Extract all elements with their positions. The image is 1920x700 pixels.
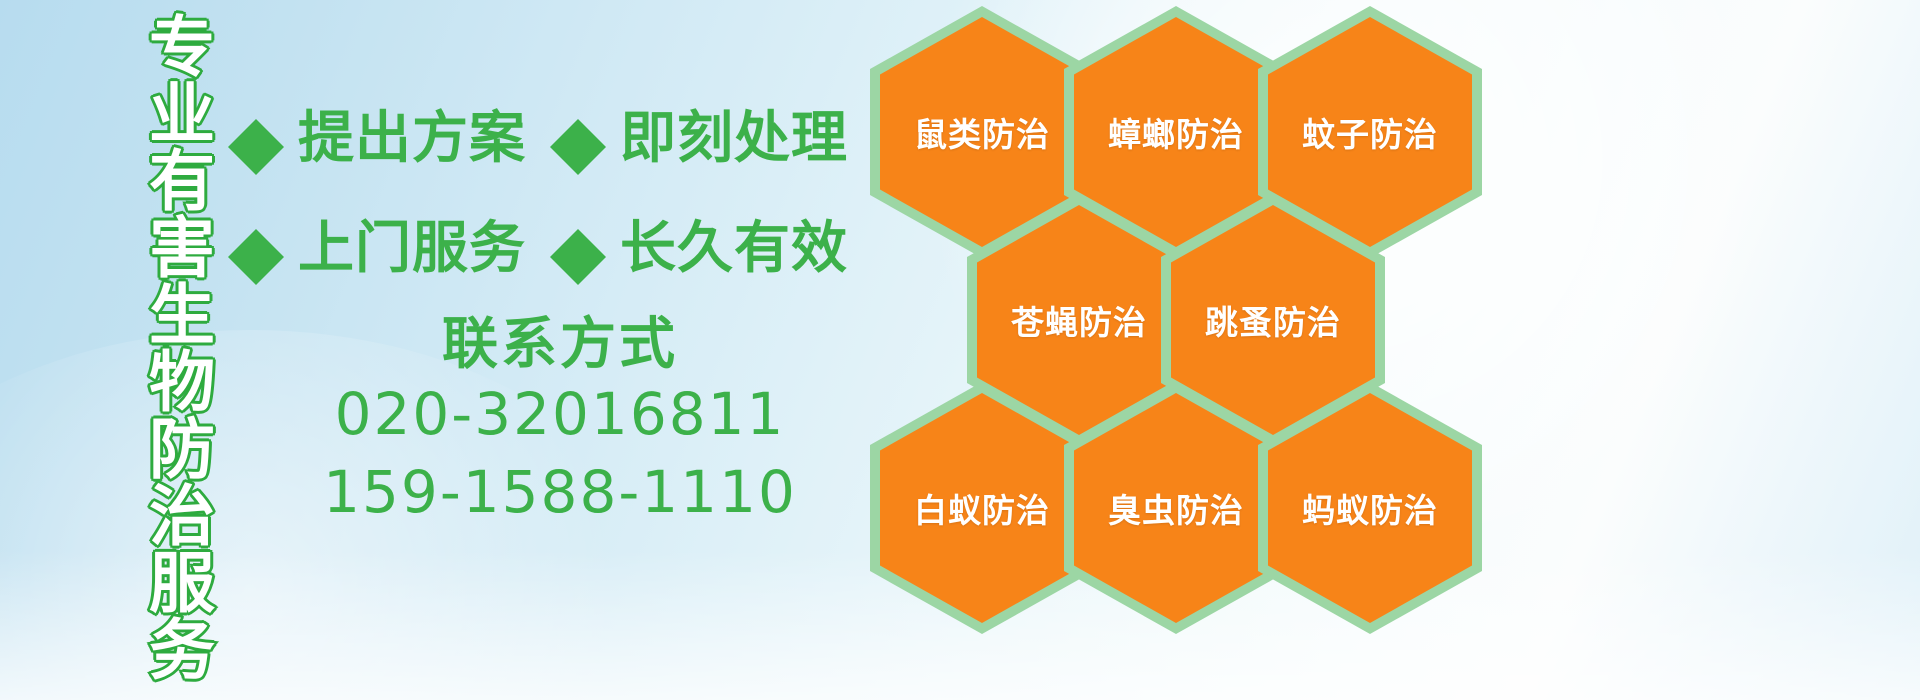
diamond-bullet-icon: [228, 201, 284, 257]
hex-label: 蟑螂防治: [1108, 108, 1244, 156]
hex-label: 苍蝇防治: [1011, 296, 1147, 344]
diamond-bullet-icon: [550, 91, 606, 147]
feature-row: 提出方案 即刻处理: [228, 78, 868, 188]
feature-item-immediate-handling: 即刻处理: [550, 93, 848, 174]
feature-item-propose-plan: 提出方案: [228, 93, 526, 174]
feature-label: 提出方案: [298, 93, 526, 174]
diamond-bullet-icon: [550, 201, 606, 257]
pest-control-banner: 专业有害生物防治服务 提出方案 即刻处理 上门服务 长久有效 联系方式: [0, 0, 1920, 700]
hex-label: 臭虫防治: [1108, 484, 1244, 532]
diamond-bullet-icon: [228, 91, 284, 147]
contact-phone-landline[interactable]: 020-32016811: [300, 376, 820, 454]
feature-label: 长久有效: [620, 203, 848, 284]
contact-title: 联系方式: [300, 312, 820, 376]
hex-inner: 臭虫防治: [1074, 393, 1278, 623]
vertical-headline: 专业有害生物防治服务: [106, 12, 210, 672]
hex-label: 鼠类防治: [914, 108, 1050, 156]
feature-list: 提出方案 即刻处理 上门服务 长久有效: [228, 78, 868, 298]
hex-label: 白蚁防治: [914, 484, 1050, 532]
feature-row: 上门服务 长久有效: [228, 188, 868, 298]
hex-label: 蚊子防治: [1302, 108, 1438, 156]
contact-phone-mobile[interactable]: 159-1588-1110: [300, 454, 820, 532]
contact-block: 联系方式 020-32016811 159-1588-1110: [300, 312, 820, 532]
hex-inner: 白蚁防治: [880, 393, 1084, 623]
feature-label: 上门服务: [298, 203, 526, 284]
hex-label: 跳蚤防治: [1205, 296, 1341, 344]
feature-item-onsite-service: 上门服务: [228, 203, 526, 284]
hex-inner: 蚂蚁防治: [1268, 393, 1472, 623]
service-honeycomb: 鼠类防治 蟑螂防治 蚊子防治 苍蝇防治 跳蚤防治 白蚁防治: [860, 0, 1580, 700]
feature-item-long-lasting: 长久有效: [550, 203, 848, 284]
hex-label: 蚂蚁防治: [1302, 484, 1438, 532]
feature-label: 即刻处理: [620, 93, 848, 174]
